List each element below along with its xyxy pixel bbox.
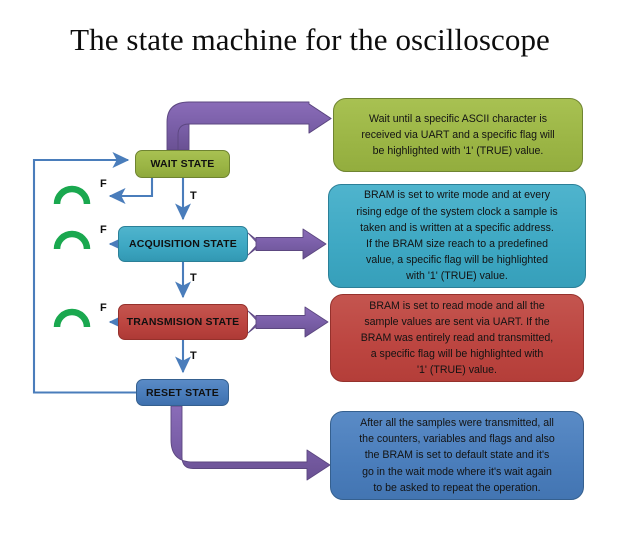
callout-acquisition-description: BRAM is set to write mode and at every r…: [328, 184, 586, 288]
transmission-self-loop-icon: [57, 312, 87, 327]
callout-line: BRAM was entirely read and transmitted,: [361, 330, 554, 346]
slide-canvas: The state machine for the oscilloscope: [0, 0, 620, 555]
state-label-reset: RESET STATE: [146, 387, 219, 399]
callout-line: received via UART and a specific flag wi…: [361, 127, 554, 143]
condition-label-transmission-true: T: [190, 350, 197, 362]
callout-line: rising edge of the system clock a sample…: [356, 204, 557, 220]
arrow-wait-to-callout: [167, 102, 331, 150]
callout-reset-description: After all the samples were transmitted, …: [330, 411, 584, 500]
callout-line: the BRAM is set to default state and it'…: [365, 447, 550, 463]
acquisition-self-loop-icon: [57, 234, 87, 249]
callout-line: value, a specific flag will be highlight…: [366, 252, 548, 268]
callout-line: Wait until a specific ASCII character is: [369, 111, 547, 127]
condition-label-transmission-false: F: [100, 302, 107, 314]
callout-line: with '1' (TRUE) value.: [406, 268, 508, 284]
callout-line: be highlighted with '1' (TRUE) value.: [373, 143, 544, 159]
callout-line: sample values are sent via UART. If the: [364, 314, 549, 330]
callout-line: After all the samples were transmitted, …: [360, 415, 554, 431]
state-box-reset[interactable]: RESET STATE: [136, 379, 229, 406]
callout-transmission-description: BRAM is set to read mode and all the sam…: [330, 294, 584, 382]
state-box-wait[interactable]: WAIT STATE: [135, 150, 230, 178]
wait-false-branch: [110, 178, 152, 196]
callout-line: If the BRAM size reach to a predefined: [366, 236, 548, 252]
condition-label-wait-true: T: [190, 190, 197, 202]
state-label-wait: WAIT STATE: [150, 158, 214, 170]
callout-line: to be asked to repeat the operation.: [373, 480, 540, 496]
arrow-acquisition-to-callout: [248, 229, 326, 259]
condition-label-wait-false: F: [100, 178, 107, 190]
callout-line: '1' (TRUE) value.: [417, 362, 497, 378]
arrow-transmission-to-callout: [248, 307, 328, 337]
callout-line: taken and is written at a specific addre…: [360, 220, 554, 236]
callout-line: go in the wait mode where it's wait agai…: [362, 464, 552, 480]
arrow-reset-to-callout: [171, 406, 330, 480]
condition-label-acquisition-true: T: [190, 272, 197, 284]
condition-label-acquisition-false: F: [100, 224, 107, 236]
callout-line: BRAM is set to write mode and at every: [364, 187, 550, 203]
state-label-acquisition: ACQUISITION STATE: [129, 238, 237, 250]
callout-wait-description: Wait until a specific ASCII character is…: [333, 98, 583, 172]
state-box-acquisition[interactable]: ACQUISITION STATE: [118, 226, 248, 262]
state-box-transmission[interactable]: TRANSMISION STATE: [118, 304, 248, 340]
state-label-transmission: TRANSMISION STATE: [127, 316, 240, 328]
callout-line: the counters, variables and flags and al…: [359, 431, 555, 447]
wait-self-loop-icon: [57, 189, 87, 204]
callout-line: a specific flag will be highlighted with: [371, 346, 544, 362]
callout-line: BRAM is set to read mode and all the: [369, 298, 544, 314]
